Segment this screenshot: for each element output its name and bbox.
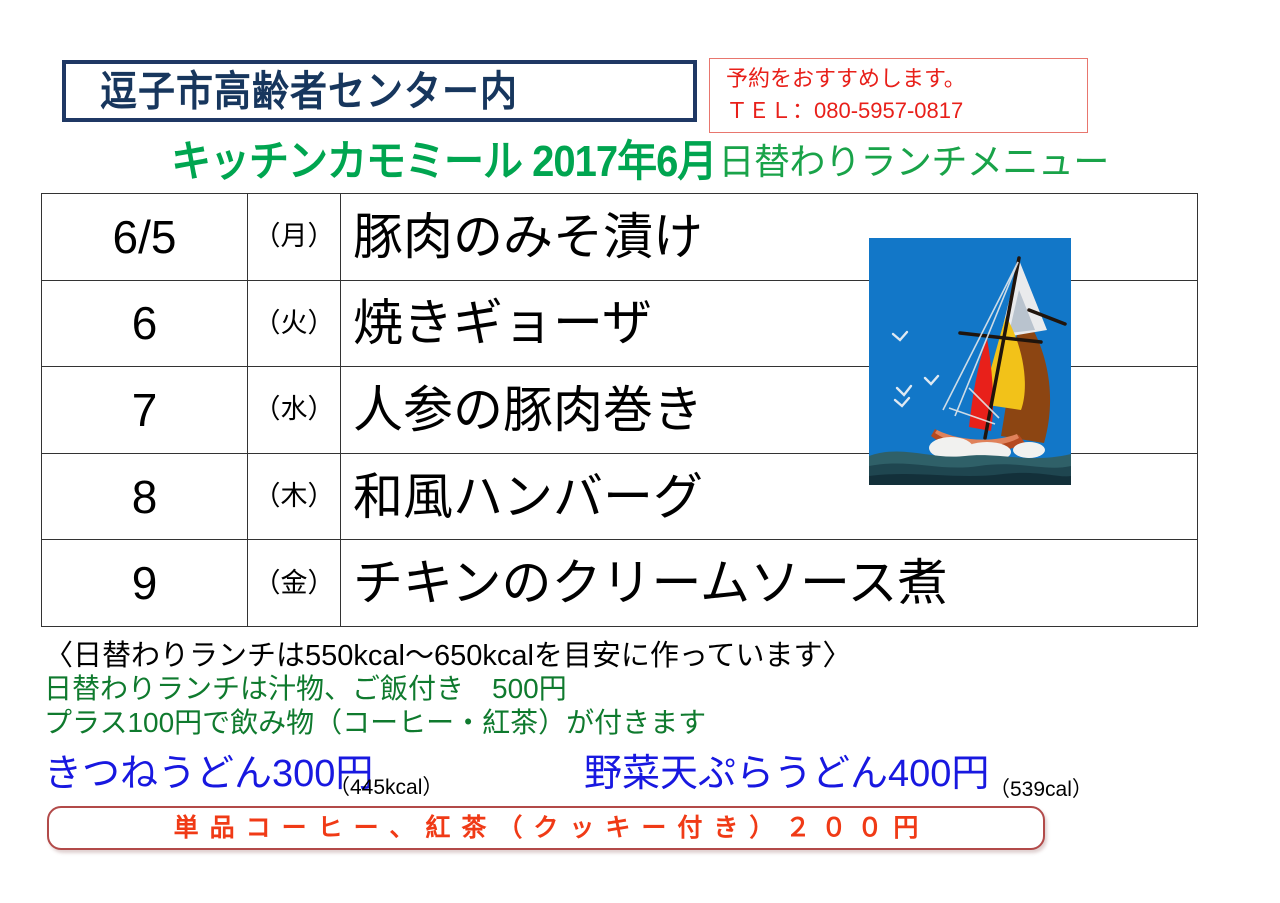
menu-dish-text: 焼きギョーザ [341,298,652,348]
menu-day-cell: （水） [248,367,341,454]
menu-dish-text: 人参の豚肉巻き [341,385,703,435]
menu-day-cell: （火） [248,280,341,367]
drink-offer-text: 単品コーヒー、紅茶（クッキー付き）２００円 [163,816,930,841]
menu-day-text: （金） [254,568,335,598]
menu-dish-text: 豚肉のみそ漬け [341,212,703,262]
note-drink-addon: プラス100円で飲み物（コーヒー・紅茶）が付きます [44,706,1244,739]
reservation-recommend-text: 予約をおすすめします。 [726,63,1087,95]
menu-dish-cell: チキンのクリームソース煮 [341,540,1198,627]
udon-kitsune-name: きつねうどん300円 [44,755,373,793]
venue-title-text: 逗子市高齢者センター内 [66,70,518,111]
drink-offer-box: 単品コーヒー、紅茶（クッキー付き）２００円 [47,806,1045,850]
menu-day-text: （月） [254,221,335,251]
menu-day-cell: （木） [248,453,341,540]
menu-date-cell: 8 [42,453,248,540]
menu-banner-title: キッチンカモミール 2017年6月 [171,140,716,183]
table-row: 9 （金） チキンのクリームソース煮 [42,540,1198,627]
menu-day-text: （木） [254,481,335,511]
menu-day-text: （火） [254,308,335,338]
udon-price-row: きつねうどん300円 （445kcal） 野菜天ぷらうどん400円 （539ca… [44,753,1244,803]
menu-date-cell: 6 [42,280,248,367]
sailboat-icon [869,238,1071,485]
menu-day-cell: （金） [248,540,341,627]
menu-date-text: 7 [132,384,158,436]
menu-day-cell: （月） [248,194,341,281]
menu-date-text: 6/5 [113,211,177,263]
menu-day-text: （水） [254,394,335,424]
menu-banner-subtitle: 日替わりランチメニュー [716,144,1109,180]
reservation-notice-box: 予約をおすすめします。 ＴＥＬ：080-5957-0817 [709,58,1088,133]
menu-date-text: 8 [132,471,158,523]
venue-title-box: 逗子市高齢者センター内 [62,60,697,122]
menu-date-cell: 9 [42,540,248,627]
udon-tempura-kcal: （539cal） [989,779,1093,800]
reservation-phone-text: ＴＥＬ：080-5957-0817 [726,95,1087,127]
menu-date-text: 9 [132,557,158,609]
menu-dish-text: 和風ハンバーグ [341,472,703,522]
note-kcal-range: 〈日替わりランチは550kcal～650kcalを目安に作っています〉 [44,640,1244,672]
menu-date-cell: 6/5 [42,194,248,281]
menu-date-text: 6 [132,297,158,349]
notes-section: 〈日替わりランチは550kcal～650kcalを目安に作っています〉 日替わり… [44,640,1244,739]
note-set-price: 日替わりランチは汁物、ご飯付き 500円 [44,672,1244,705]
udon-tempura-name: 野菜天ぷらうどん400円 [584,755,989,793]
menu-dish-text: チキンのクリームソース煮 [341,558,948,608]
menu-banner: キッチンカモミール 2017年6月 日替わりランチメニュー [0,138,1280,186]
menu-date-cell: 7 [42,367,248,454]
udon-kitsune-kcal: （445kcal） [329,777,443,798]
